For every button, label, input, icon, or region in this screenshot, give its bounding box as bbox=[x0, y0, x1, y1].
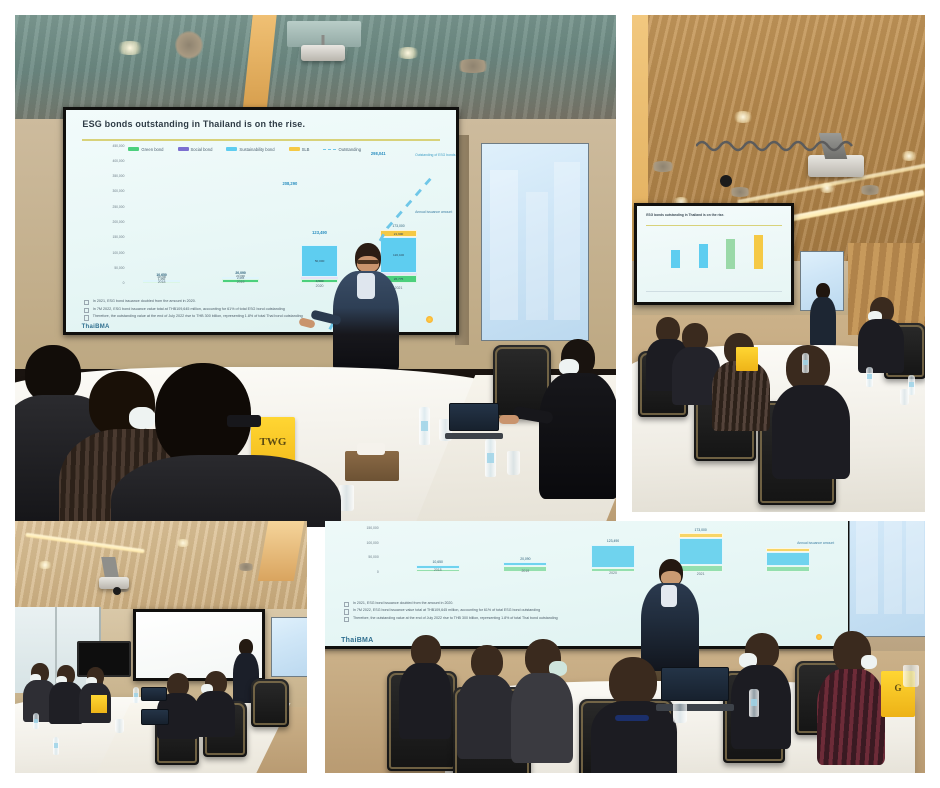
bar-total-2021: 173,000 bbox=[374, 224, 423, 228]
ytick: 50,000 bbox=[368, 555, 378, 559]
attendee bbox=[511, 639, 573, 759]
bullet-checkbox-icon bbox=[344, 609, 349, 614]
bar-group-7m2022 bbox=[766, 548, 810, 571]
window bbox=[849, 521, 925, 637]
attendee bbox=[539, 339, 616, 499]
ytick: 150,000 bbox=[113, 235, 125, 239]
bar-total-2020: 123,490 bbox=[583, 539, 643, 543]
bar-total-2020: 123,490 bbox=[295, 230, 344, 235]
bar-seg-2021-slb: 21,900 bbox=[381, 232, 415, 236]
window bbox=[271, 617, 307, 677]
bullet-text: Therefore, the outstanding value at the … bbox=[353, 616, 558, 622]
bar-group-2018: 10,650 10,200 1,350 2018 bbox=[143, 280, 179, 283]
ytick: 400,000 bbox=[113, 159, 125, 163]
bullet-text: In 7M 2022, ESG bond issuance value tota… bbox=[93, 307, 285, 313]
drinking-glass bbox=[339, 485, 354, 511]
bar-total-2018: 10,650 bbox=[408, 560, 468, 564]
drinking-glass bbox=[115, 719, 124, 733]
twg-tea-gift-bag bbox=[736, 347, 758, 371]
attendee bbox=[819, 631, 883, 761]
photo-top-left: ESG bonds outstanding in Thailand is on … bbox=[15, 15, 616, 527]
ytick: 300,000 bbox=[113, 189, 125, 193]
attendee bbox=[399, 635, 451, 735]
photo-bottom-left bbox=[15, 521, 307, 773]
attendee bbox=[49, 665, 83, 721]
xtick-2018: 2018 bbox=[407, 568, 468, 572]
slide-brand-thaibma: ThaiBMA bbox=[82, 324, 110, 330]
bar-group-2020: 123,490 2020 bbox=[591, 545, 635, 572]
presenter bbox=[333, 243, 399, 373]
bar-group-2018: 10,650 2018 bbox=[416, 565, 460, 572]
drinking-glass bbox=[507, 451, 520, 475]
water-bottle bbox=[485, 439, 496, 477]
squiggle-annotation bbox=[696, 137, 856, 155]
ytick: 350,000 bbox=[113, 174, 125, 178]
projection-screen: 0 50,000 100,000 150,000 200,000 250,000… bbox=[325, 521, 851, 649]
slide-brand-thaibma: ThaiBMA bbox=[341, 637, 373, 644]
bullet-text: In 2021, ESG bond issuance doubled from … bbox=[93, 299, 196, 305]
projection-screen: ESG bonds outstanding in Thailand is on … bbox=[63, 107, 459, 335]
bullet-checkbox-icon bbox=[344, 602, 349, 607]
water-bottle bbox=[419, 407, 430, 445]
bullet-text: In 2021, ESG bond issuance doubled from … bbox=[353, 601, 454, 607]
ytick: 100,000 bbox=[113, 251, 125, 255]
water-bottle bbox=[802, 353, 809, 373]
bar-total-2021: 173,000 bbox=[671, 528, 731, 532]
water-bottle bbox=[33, 713, 39, 729]
attendee bbox=[772, 345, 850, 475]
chart-y-axis: 0 50,000 100,000 150,000 200,000 250,000… bbox=[84, 146, 127, 284]
chair bbox=[251, 679, 289, 727]
bullet-checkbox-icon bbox=[84, 315, 89, 320]
pen bbox=[615, 715, 649, 721]
bullet-text: In 7M 2022, ESG bond issuance value tota… bbox=[353, 608, 540, 614]
brand-sun-icon bbox=[426, 316, 433, 323]
drinking-glass bbox=[673, 703, 687, 723]
bullet-checkbox-icon bbox=[344, 617, 349, 622]
attendee bbox=[858, 297, 904, 369]
water-bottle bbox=[866, 367, 873, 387]
twg-tea-gift-bag bbox=[91, 695, 107, 713]
laptop bbox=[141, 709, 169, 729]
photo-bottom-right: 0 50,000 100,000 150,000 200,000 250,000… bbox=[325, 521, 925, 773]
bar-seg-2020-green: 4,500 bbox=[302, 279, 336, 283]
xtick-2019: 2019 bbox=[495, 569, 556, 573]
photo-top-right: ESG bonds outstanding in Thailand is on … bbox=[632, 15, 925, 512]
bar-total-2019: 20,090 bbox=[496, 557, 556, 561]
water-bottle bbox=[749, 689, 759, 717]
water-bottle bbox=[53, 737, 59, 755]
ytick: 250,000 bbox=[113, 205, 125, 209]
outstanding-callout: Outstanding of ESG bonds bbox=[415, 153, 455, 157]
far-presenter bbox=[810, 283, 836, 347]
outstanding-label-2021: 298,041 bbox=[371, 151, 386, 156]
bar-seg-2020-sust: 50,000 bbox=[302, 259, 336, 263]
ytick: 0 bbox=[377, 570, 379, 574]
xtick-2020: 2020 bbox=[582, 571, 643, 575]
bullet-checkbox-icon bbox=[84, 308, 89, 313]
bullet-text: Therefore, the outstanding value at the … bbox=[93, 314, 303, 320]
outstanding-label-2020: 208,290 bbox=[282, 181, 297, 186]
attendee bbox=[457, 645, 515, 755]
face-mask bbox=[861, 655, 877, 669]
window bbox=[481, 143, 589, 341]
issuance-callout: Annual issuance amount bbox=[415, 210, 452, 214]
xtick-2019: 2019 bbox=[215, 280, 266, 284]
ceiling-projector bbox=[301, 45, 345, 61]
attendee bbox=[195, 671, 235, 731]
ytick: 100,000 bbox=[366, 541, 378, 545]
attendee bbox=[731, 633, 791, 743]
dome-camera-icon bbox=[720, 175, 732, 187]
water-bottle bbox=[908, 375, 915, 395]
ytick: 450,000 bbox=[113, 144, 125, 148]
issuance-callout: Annual issuance amount bbox=[797, 541, 834, 545]
bar-group-2019: 20,090 20,090 2,465 2019 bbox=[222, 277, 258, 283]
bar-group-2019: 20,090 2019 bbox=[503, 562, 547, 572]
water-bottle bbox=[133, 687, 139, 703]
xtick-2018: 2018 bbox=[136, 280, 187, 284]
ytick: 50,000 bbox=[114, 266, 124, 270]
mini-slide-title: ESG bonds outstanding in Thailand is on … bbox=[646, 213, 724, 217]
bullet-checkbox-icon bbox=[84, 300, 89, 305]
dome-camera-icon bbox=[113, 587, 121, 595]
laptop bbox=[449, 403, 499, 439]
photo-collage: ESG bonds outstanding in Thailand is on … bbox=[0, 0, 940, 788]
attendee-foreground bbox=[135, 363, 325, 527]
presentation-slide: 0 50,000 100,000 150,000 200,000 250,000… bbox=[325, 521, 848, 646]
ytick: 200,000 bbox=[113, 220, 125, 224]
ytick: 150,000 bbox=[366, 526, 378, 530]
slide-title: ESG bonds outstanding in Thailand is on … bbox=[82, 119, 305, 129]
tissue-box bbox=[345, 451, 399, 481]
laptop bbox=[661, 667, 729, 711]
drinking-glass bbox=[903, 665, 919, 687]
projection-screen: ESG bonds outstanding in Thailand is on … bbox=[634, 203, 794, 305]
laptop bbox=[141, 687, 167, 703]
